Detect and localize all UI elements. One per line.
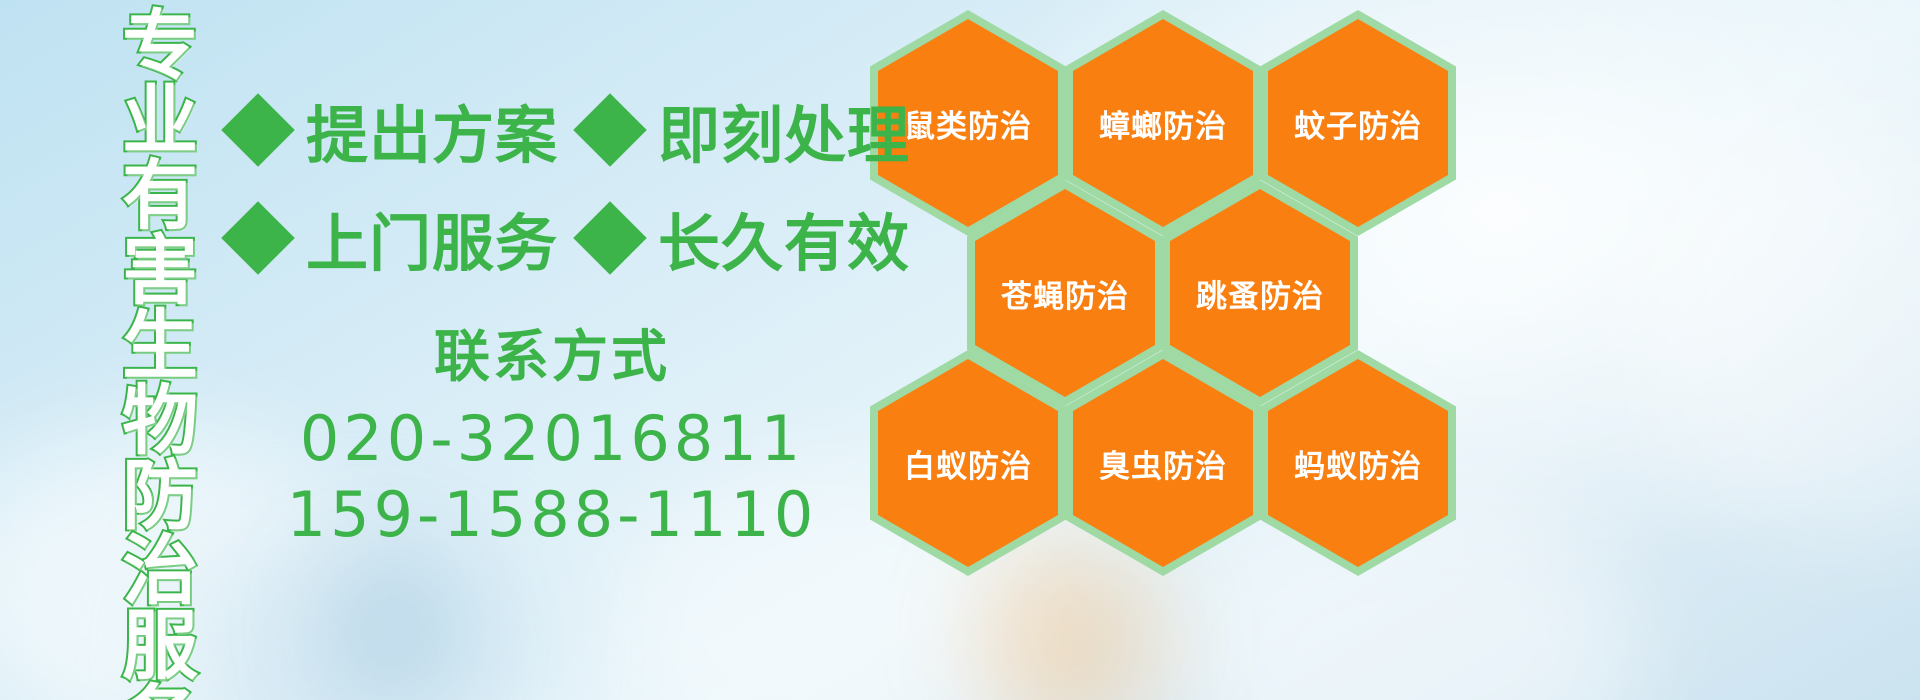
feature-label: 长久有效	[658, 193, 910, 283]
headline-char: 治	[122, 533, 198, 608]
headline-char: 防	[122, 458, 198, 533]
service-label: 白蚁防治	[904, 441, 1032, 486]
feature-label: 即刻处理	[658, 85, 910, 175]
headline-char: 务	[122, 683, 198, 700]
feature-row: 提出方案 即刻处理	[232, 76, 872, 184]
headline-char: 害	[122, 233, 198, 308]
contact-heading: 联系方式	[232, 312, 872, 393]
service-label: 跳蚤防治	[1196, 271, 1324, 316]
feature-list: 提出方案 即刻处理 上门服务 长久有效	[232, 76, 872, 292]
service-label: 蟑螂防治	[1099, 101, 1227, 146]
diamond-icon	[221, 201, 295, 275]
service-label: 苍蝇防治	[1001, 271, 1129, 316]
background-blob	[330, 560, 450, 700]
service-label: 鼠类防治	[904, 101, 1032, 146]
diamond-icon	[221, 93, 295, 167]
feature-label: 上门服务	[306, 193, 558, 283]
vertical-headline: 专 业 有 害 生 物 防 治 服 务	[106, 8, 214, 698]
diamond-icon	[573, 93, 647, 167]
promo-banner: 专 业 有 害 生 物 防 治 服 务 提出方案 即刻处理 上门服务 长久有效 …	[0, 0, 1920, 700]
feature-label: 提出方案	[306, 85, 558, 175]
headline-char: 业	[122, 83, 198, 158]
headline-char: 服	[122, 608, 198, 683]
diamond-icon	[573, 201, 647, 275]
headline-char: 专	[122, 8, 198, 83]
background-blob	[1640, 120, 1920, 540]
headline-char: 生	[122, 308, 198, 383]
service-label: 蚊子防治	[1294, 101, 1422, 146]
service-label: 臭虫防治	[1099, 441, 1227, 486]
phone-number-mobile[interactable]: 159-1588-1110	[232, 477, 872, 553]
feature-row: 上门服务 长久有效	[232, 184, 872, 292]
contact-block: 联系方式 020-32016811 159-1588-1110	[232, 312, 872, 553]
headline-char: 有	[122, 158, 198, 233]
phone-number-landline[interactable]: 020-32016811	[232, 401, 872, 477]
service-label: 蚂蚁防治	[1294, 441, 1422, 486]
service-honeycomb: 鼠类防治 蟑螂防治 蚊子防治 苍蝇防治 跳蚤防治 白蚁防治 臭虫防治	[862, 0, 1462, 700]
headline-char: 物	[122, 383, 198, 458]
